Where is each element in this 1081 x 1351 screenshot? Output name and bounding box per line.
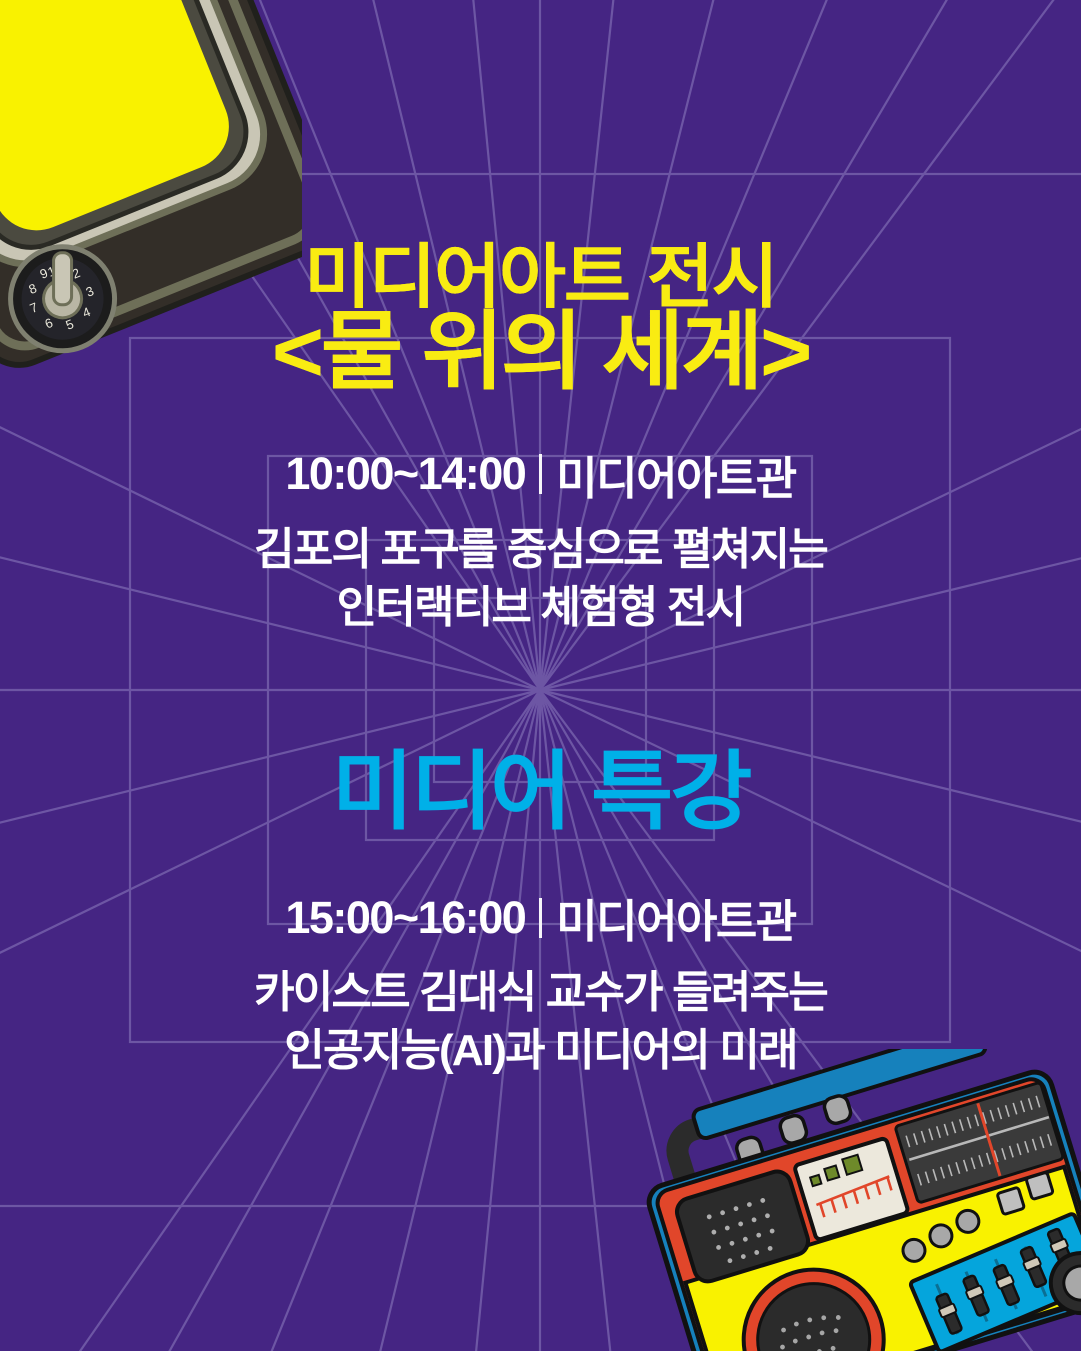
lecture-description-line2: 인공지능(AI)과 미디어의 미래 bbox=[0, 1022, 1081, 1080]
retro-boombox-illustration bbox=[641, 1049, 1081, 1351]
lecture-block: 미디어 특강 15:00~16:00 미디어아트관 카이스트 김대식 교수가 들… bbox=[0, 749, 1081, 1080]
lecture-heading: 미디어 특강 bbox=[0, 749, 1081, 835]
meta-separator-icon bbox=[539, 454, 542, 494]
lecture-time: 15:00~16:00 bbox=[285, 892, 525, 944]
exhibition-meta: 10:00~14:00 미디어아트관 bbox=[0, 442, 1081, 507]
exhibition-time: 10:00~14:00 bbox=[285, 448, 525, 500]
exhibition-description-line2: 인터랙티브 체험형 전시 bbox=[0, 579, 1081, 637]
exhibition-venue: 미디어아트관 bbox=[556, 442, 795, 507]
meta-separator-icon bbox=[539, 898, 542, 938]
exhibition-description: 김포의 포구를 중심으로 펼쳐지는 인터랙티브 체험형 전시 bbox=[0, 521, 1081, 637]
lecture-meta: 15:00~16:00 미디어아트관 bbox=[0, 885, 1081, 950]
exhibition-description-line1: 김포의 포구를 중심으로 펼쳐지는 bbox=[254, 525, 827, 574]
lecture-description: 카이스트 김대식 교수가 들려주는 인공지능(AI)과 미디어의 미래 bbox=[0, 964, 1081, 1080]
exhibition-title: <물 위의 세계> bbox=[0, 310, 1081, 394]
poster-content: 미디어아트 전시 <물 위의 세계> 10:00~14:00 미디어아트관 김포… bbox=[0, 0, 1081, 1080]
media-art-event-poster: 1 2 3 4 5 6 7 8 9 bbox=[0, 0, 1081, 1351]
exhibition-block: 미디어아트 전시 <물 위의 세계> 10:00~14:00 미디어아트관 김포… bbox=[0, 0, 1081, 637]
lecture-description-line1: 카이스트 김대식 교수가 들려주는 bbox=[254, 968, 827, 1017]
lecture-venue: 미디어아트관 bbox=[556, 885, 795, 950]
exhibition-eyebrow: 미디어아트 전시 bbox=[0, 0, 1081, 312]
